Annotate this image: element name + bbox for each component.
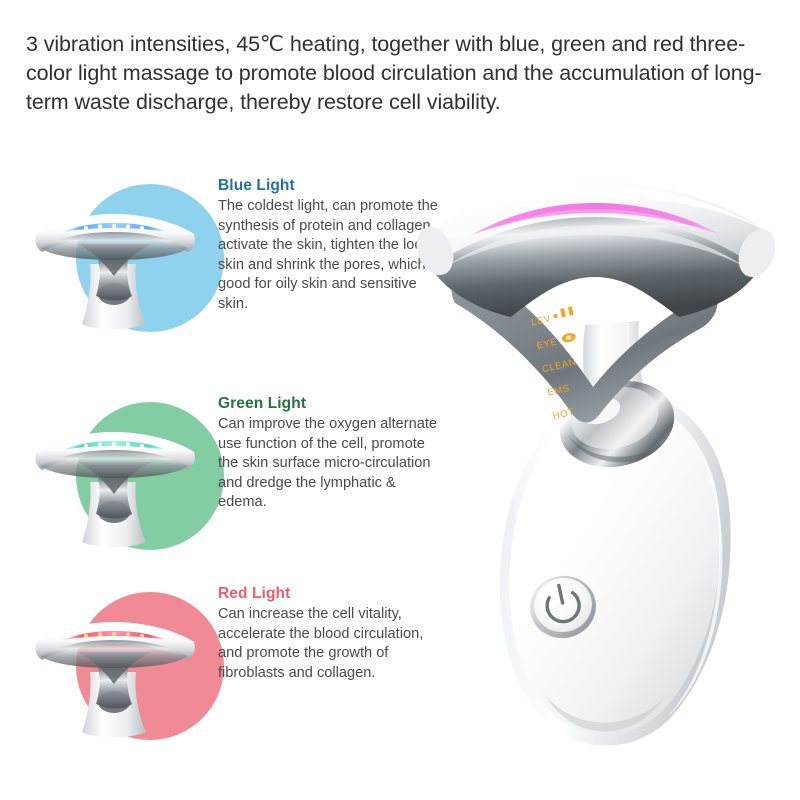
feature-thumbnail-green bbox=[28, 394, 198, 559]
device-head bbox=[415, 181, 775, 423]
page-headline: 3 vibration intensities, 45℃ heating, to… bbox=[26, 30, 774, 117]
feature-body-blue: The coldest light, can promote the synth… bbox=[218, 197, 443, 315]
feature-thumbnail-red bbox=[28, 584, 198, 749]
feature-text-green: Green Light Can improve the oxygen alter… bbox=[218, 394, 443, 513]
feature-title-blue: Blue Light bbox=[218, 176, 443, 196]
feature-title-green: Green Light bbox=[218, 394, 443, 414]
feature-text-red: Red Light Can increase the cell vitality… bbox=[218, 584, 443, 683]
mini-device-green bbox=[28, 416, 203, 556]
feature-text-blue: Blue Light The coldest light, can promot… bbox=[218, 176, 443, 315]
feature-title-red: Red Light bbox=[218, 584, 443, 604]
indicator-icon-eye bbox=[561, 332, 577, 344]
feature-body-red: Can increase the cell vitality, accelera… bbox=[218, 605, 443, 683]
mini-device-red bbox=[28, 606, 203, 746]
mini-device-blue bbox=[28, 198, 203, 338]
indicator-bars-lev bbox=[552, 306, 574, 319]
feature-body-green: Can improve the oxygen alternate use fun… bbox=[218, 415, 443, 513]
feature-thumbnail-blue bbox=[28, 176, 198, 341]
hero-product-device: LEV EYE CLEAN EMS HOT bbox=[415, 175, 775, 755]
